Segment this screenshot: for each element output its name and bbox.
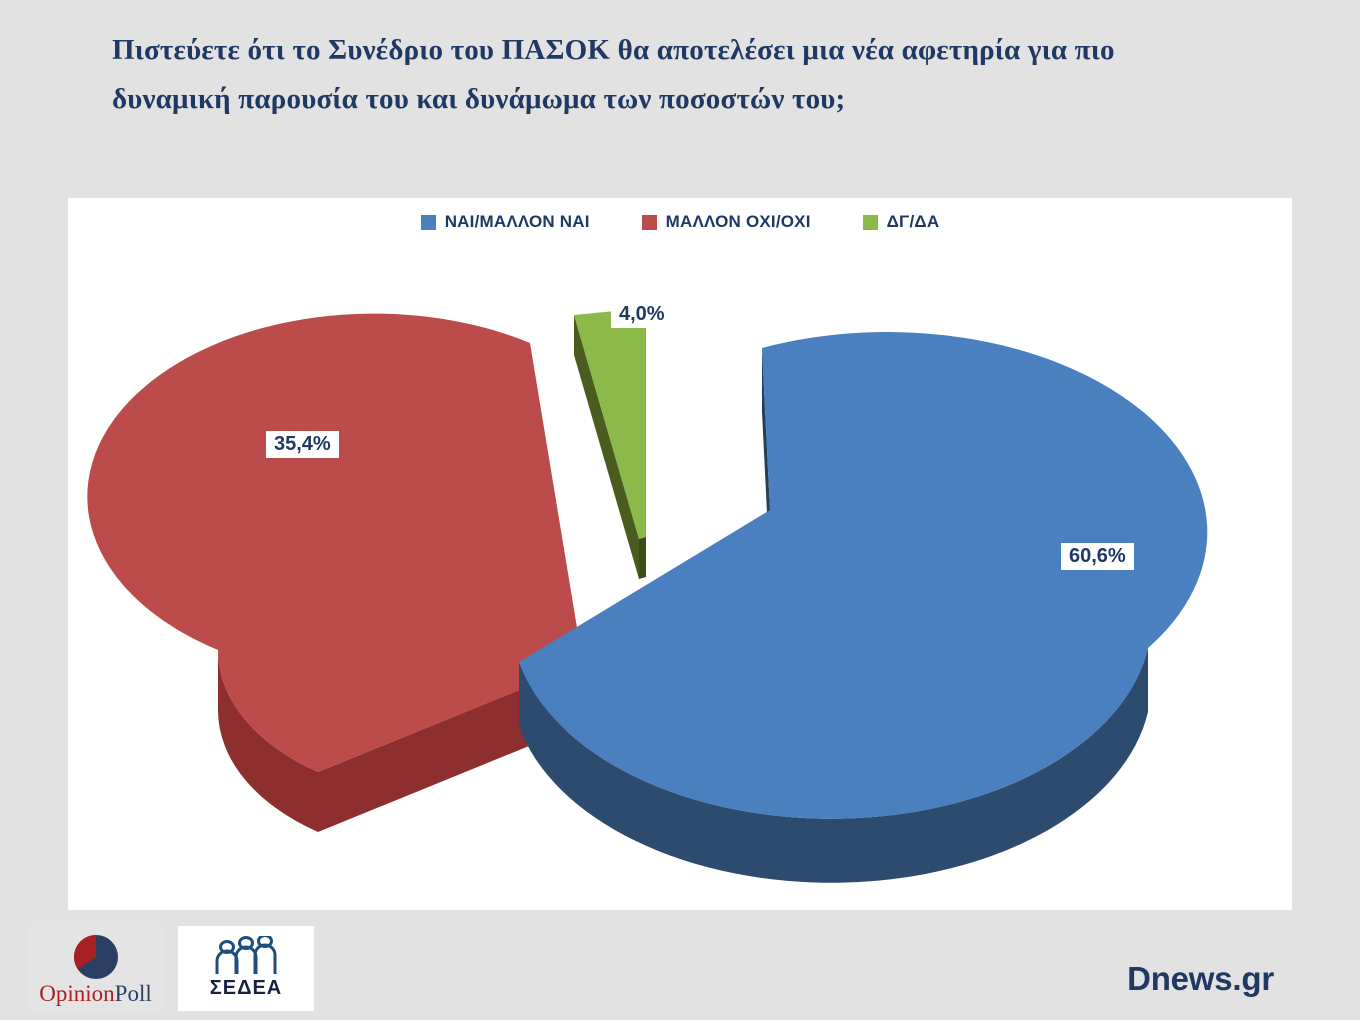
data-label-oxi: 35,4%: [266, 431, 339, 458]
sedea-logo: ΣΕΔΕΑ: [178, 926, 314, 1011]
page-title-line-2: δυναμική παρουσία του και δυνάμωμα των π…: [112, 75, 1232, 124]
opinionpoll-wordmark: OpinionPoll: [28, 982, 163, 1005]
data-label-dgda: 4,0%: [611, 301, 673, 328]
opinionpoll-logo: OpinionPoll: [28, 926, 163, 1011]
site-brand: Dnews.gr: [1127, 960, 1274, 998]
opinionpoll-word-opinion: Opinion: [39, 981, 114, 1006]
pie-slice-dgda[interactable]: [574, 308, 646, 579]
opinionpoll-word-poll: Poll: [115, 981, 152, 1006]
sedea-wordmark: ΣΕΔΕΑ: [178, 978, 314, 998]
data-label-nai: 60,6%: [1061, 543, 1134, 570]
pie-slice-dgda-top: [574, 308, 646, 539]
pie-slice-oxi[interactable]: [87, 314, 583, 832]
pie-chart: 35,4% 4,0% 60,6%: [68, 198, 1292, 910]
chart-panel: ΝΑΙ/ΜΑΛΛΟΝ ΝΑΙ ΜΑΛΛΟΝ ΟΧΙ/ΟΧΙ ΔΓ/ΔΑ: [68, 198, 1292, 910]
page-title: Πιστεύετε ότι το Συνέδριο του ΠΑΣΟΚ θα α…: [112, 26, 1232, 124]
page-title-line-1: Πιστεύετε ότι το Συνέδριο του ΠΑΣΟΚ θα α…: [112, 26, 1232, 75]
sedea-people-icon: [207, 936, 285, 974]
pie-slice-dgda-side-front: [639, 537, 646, 579]
opinionpoll-pie-icon: [73, 934, 119, 980]
